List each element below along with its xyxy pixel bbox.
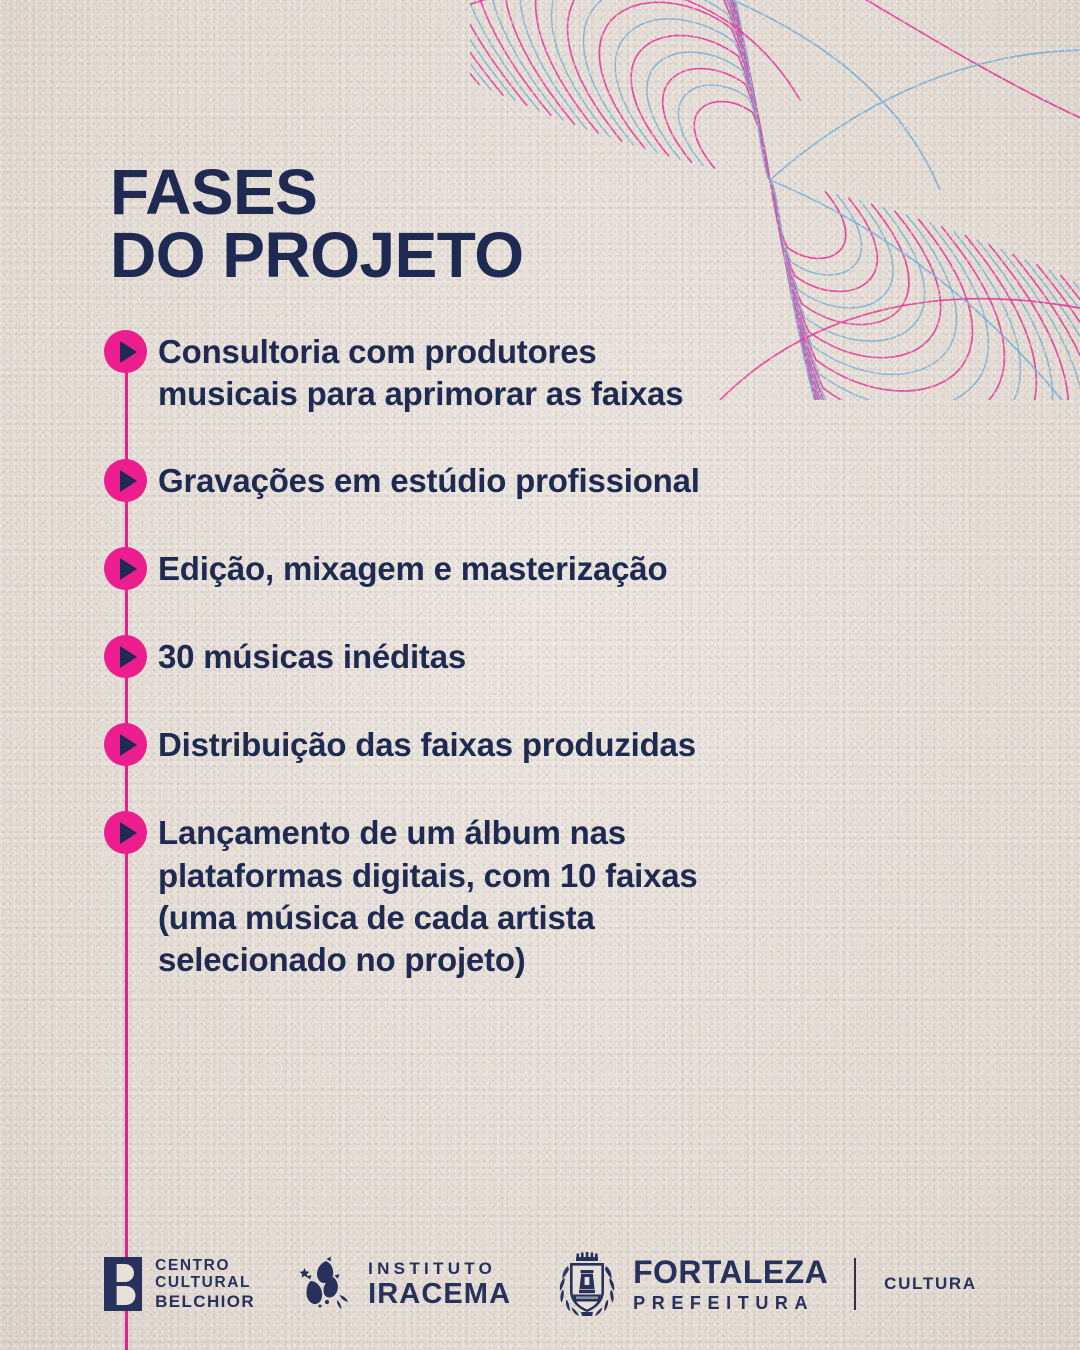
- fish-icon: [297, 1255, 355, 1313]
- list-item-line: plataformas digitais, com 10 faixas: [158, 855, 698, 897]
- b-monogram-icon: [103, 1256, 143, 1312]
- list-item-line: 30 músicas inéditas: [158, 636, 466, 678]
- list-item: Lançamento de um álbum nas plataformas d…: [104, 811, 964, 981]
- logo-centro-cultural-belchior: CENTRO CULTURAL BELCHIOR: [103, 1256, 255, 1312]
- page-title-line-1: FASES: [110, 161, 523, 224]
- timeline-rail: [104, 330, 148, 415]
- list-item-label: Gravações em estúdio profissional: [148, 459, 700, 502]
- list-item: Edição, mixagem e masterização: [104, 547, 964, 635]
- poster-canvas: FASES DO PROJETO Consultoria com produto…: [0, 0, 1080, 1350]
- list-item-line: (uma música de cada artista: [158, 897, 698, 939]
- page-title-line-2: DO PROJETO: [110, 224, 523, 287]
- play-triangle-icon: [104, 330, 147, 373]
- list-item-label: Distribuição das faixas produzidas: [148, 723, 696, 766]
- list-item-line: Lançamento de um álbum nas: [158, 812, 698, 854]
- timeline-rail: [104, 811, 148, 981]
- fortaleza-line-1: FORTALEZA: [633, 1256, 828, 1288]
- play-triangle-icon: [104, 811, 147, 854]
- belchior-line-3: BELCHIOR: [155, 1292, 255, 1311]
- play-triangle-icon: [104, 635, 147, 678]
- fortaleza-secondary-label: CULTURA: [884, 1274, 977, 1294]
- list-item-line: selecionado no projeto): [158, 939, 698, 981]
- project-phases-timeline: Consultoria com produtores musicais para…: [104, 330, 964, 981]
- list-item-label: Lançamento de um álbum nas plataformas d…: [148, 811, 698, 981]
- belchior-line-2: CULTURAL: [155, 1274, 255, 1291]
- list-item-label: Consultoria com produtores musicais para…: [148, 330, 683, 415]
- list-item: Gravações em estúdio profissional: [104, 459, 964, 547]
- timeline-rail: [104, 547, 148, 591]
- coat-of-arms-icon: [553, 1248, 621, 1320]
- sponsor-logo-bar: CENTRO CULTURAL BELCHIOR: [0, 1238, 1080, 1330]
- list-item-line: musicais para aprimorar as faixas: [158, 373, 683, 415]
- belchior-line-1: CENTRO: [155, 1257, 255, 1274]
- iracema-line-1: INSTITUTO: [368, 1260, 511, 1277]
- list-item: Consultoria com produtores musicais para…: [104, 330, 964, 459]
- timeline-rail: [104, 459, 148, 503]
- list-item-label: Edição, mixagem e masterização: [148, 547, 667, 590]
- play-triangle-icon: [104, 723, 147, 766]
- timeline-rail: [104, 635, 148, 679]
- logo-prefeitura-fortaleza: FORTALEZA PREFEITURA CULTURA: [553, 1248, 977, 1320]
- list-item-line: Edição, mixagem e masterização: [158, 548, 667, 590]
- play-triangle-icon: [104, 547, 147, 590]
- list-item-label: 30 músicas inéditas: [148, 635, 466, 678]
- list-item: 30 músicas inéditas: [104, 635, 964, 723]
- list-item: Distribuição das faixas produzidas: [104, 723, 964, 811]
- logo-instituto-iracema: INSTITUTO IRACEMA: [297, 1255, 511, 1313]
- fortaleza-line-2: PREFEITURA: [633, 1294, 828, 1312]
- page-title: FASES DO PROJETO: [110, 161, 523, 286]
- logo-divider: [854, 1258, 856, 1310]
- play-triangle-icon: [104, 459, 147, 502]
- iracema-line-2: IRACEMA: [368, 1280, 511, 1309]
- list-item-line: Gravações em estúdio profissional: [158, 460, 700, 502]
- list-item-line: Distribuição das faixas produzidas: [158, 724, 696, 766]
- list-item-line: Consultoria com produtores: [158, 331, 683, 373]
- timeline-rail: [104, 723, 148, 767]
